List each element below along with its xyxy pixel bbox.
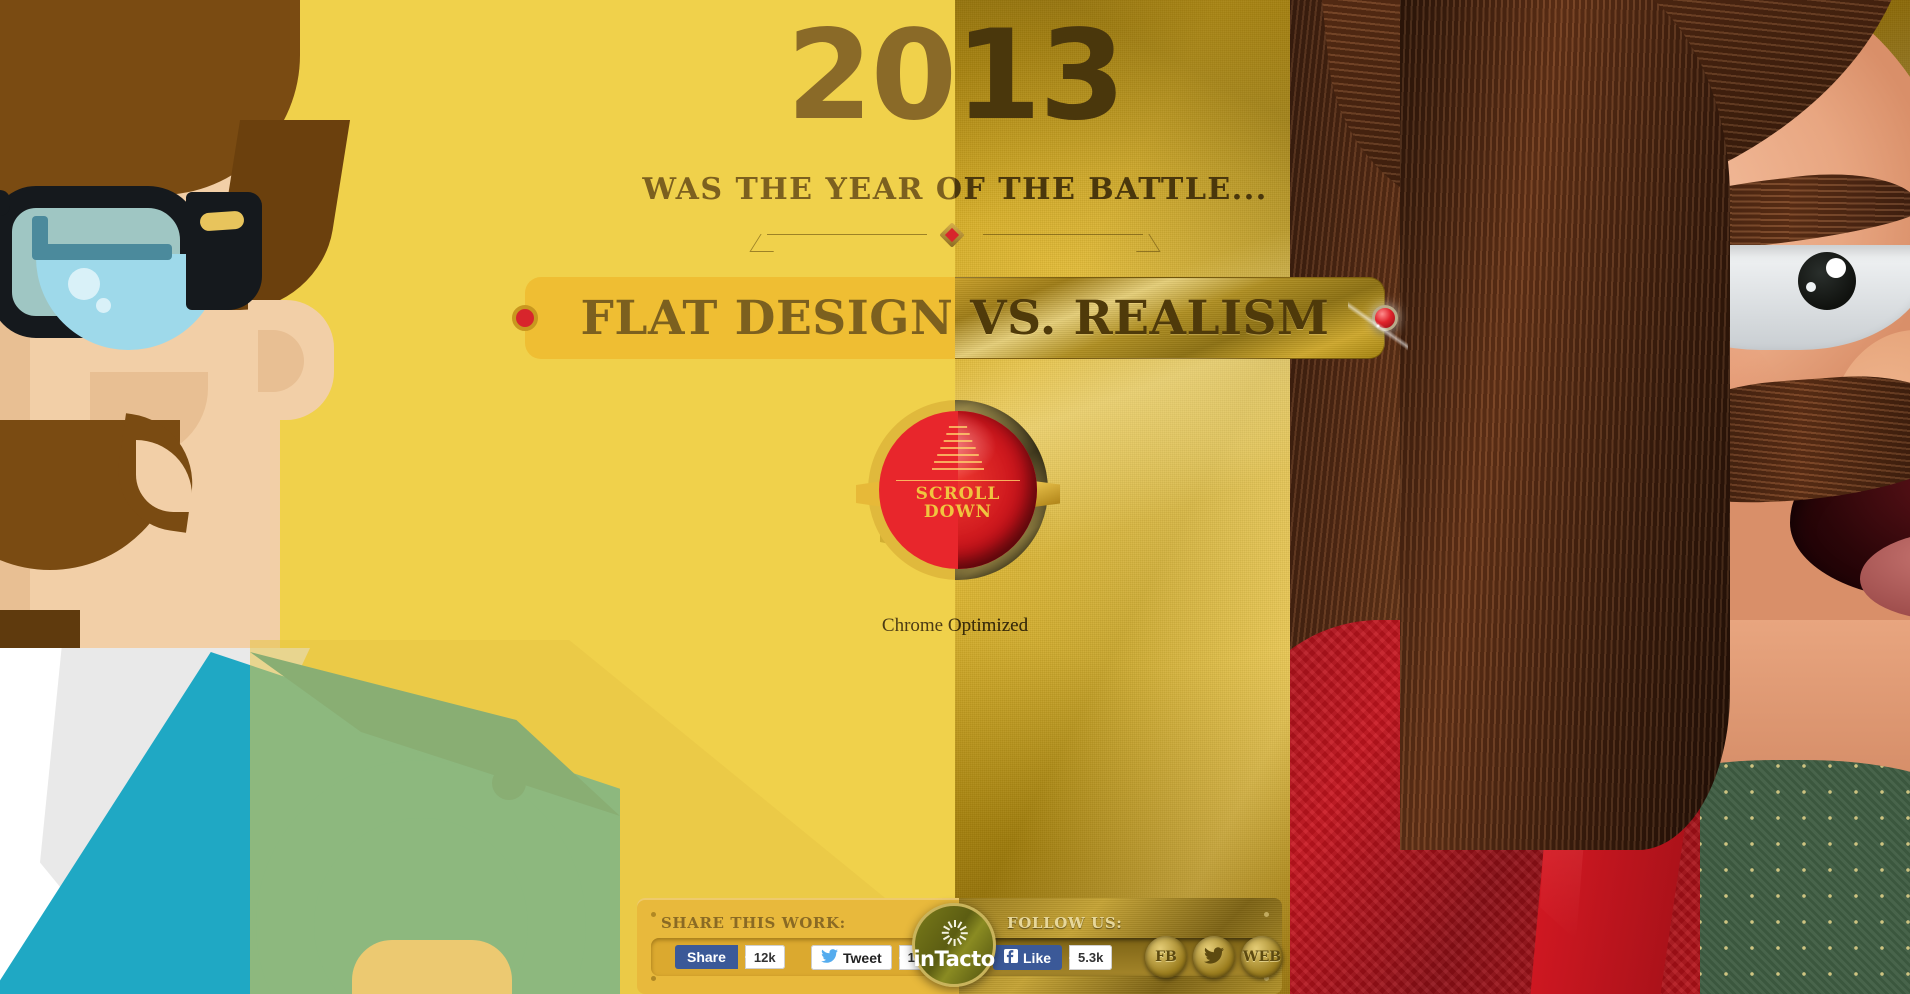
banner-rivet-left	[512, 305, 538, 331]
follow-us-title: FOLLOW US:	[1007, 914, 1122, 932]
headline-banner: FLAT DESIGN VS. REALISM FLAT DESIGN VS. …	[525, 277, 1385, 359]
year-heading-gold-half: 2013	[955, 0, 1910, 994]
hero-subtitle-gold-half: WAS THE YEAR OF THE BATTLE...	[955, 0, 1910, 994]
hero-content: 2013 2013 WAS THE YEAR OF THE BATTLE... …	[0, 0, 1910, 994]
facebook-like-label: Like	[1023, 950, 1051, 966]
intacto-logo-text: inTacto	[913, 947, 994, 971]
headline-text-gold: FLAT DESIGN VS. REALISM	[955, 277, 1385, 359]
share-bar-screw-bottom-left	[651, 976, 656, 981]
tweet-label: Tweet	[843, 950, 882, 966]
facebook-share-widget[interactable]: Share 12k	[675, 945, 785, 969]
scroll-label-line2: DOWN	[868, 504, 1048, 522]
share-this-work-title: SHARE THIS WORK:	[661, 914, 846, 932]
ornamental-divider	[755, 228, 1155, 258]
divider-line-right	[983, 234, 1143, 235]
hero-subtitle: WAS THE YEAR OF THE BATTLE...	[0, 172, 1910, 207]
intacto-logo[interactable]: inTacto	[912, 903, 996, 987]
facebook-like-widget[interactable]: Like 5.3k	[993, 945, 1112, 970]
facebook-share-label: Share	[687, 949, 726, 965]
facebook-share-button[interactable]: Share	[675, 945, 738, 969]
scroll-button-rule	[896, 480, 1020, 481]
share-bar-screw-top-right	[1264, 912, 1269, 917]
facebook-logo-icon	[1004, 949, 1018, 966]
twitter-bird-icon	[821, 949, 838, 966]
twitter-bird-glyph-icon	[1204, 947, 1224, 968]
intacto-sunburst-icon	[941, 920, 967, 946]
scroll-button-label: SCROLL DOWN	[868, 486, 1048, 522]
hero-stage: 2013 2013 WAS THE YEAR OF THE BATTLE... …	[0, 0, 1910, 994]
divider-line-left	[767, 234, 927, 235]
facebook-circle-button[interactable]: FB	[1145, 936, 1187, 978]
headline-gold-mask: FLAT DESIGN VS. REALISM	[955, 277, 1385, 359]
chrome-optimized-note: Chrome Optimized	[0, 615, 1910, 637]
scroll-chevron-icon	[932, 422, 984, 474]
scroll-down-button[interactable]: SCROLL DOWN	[868, 400, 1048, 580]
web-circle-button[interactable]: WEB	[1241, 936, 1283, 978]
year-heading: 2013	[0, 14, 1910, 138]
social-circle-buttons: FB WEB	[1145, 936, 1283, 978]
facebook-like-count: 5.3k	[1069, 945, 1112, 970]
banner-rivet-right	[1372, 305, 1398, 331]
share-bar-screw-top-left	[651, 912, 656, 917]
facebook-like-button[interactable]: Like	[993, 945, 1062, 970]
tweet-button[interactable]: Tweet	[811, 945, 892, 970]
facebook-share-count: 12k	[745, 945, 785, 969]
divider-cap-left	[749, 234, 784, 252]
divider-cap-right	[1125, 234, 1160, 252]
chrome-optimized-note-gold-half: Chrome Optimized	[955, 0, 1910, 994]
twitter-circle-button[interactable]	[1193, 936, 1235, 978]
